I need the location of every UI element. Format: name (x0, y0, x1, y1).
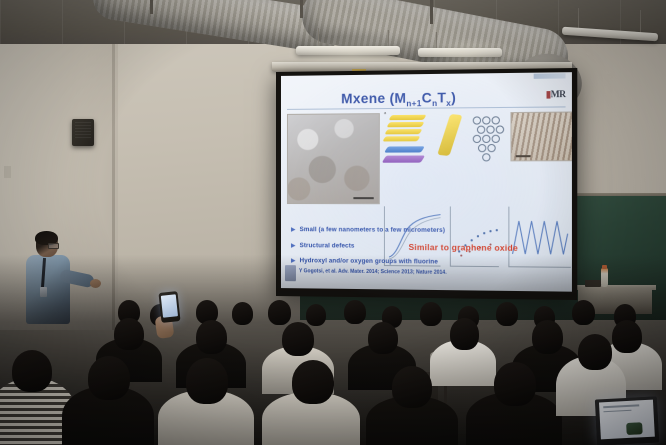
bullet-text: Hydroxyl and/or oxygen groups with fluor… (300, 257, 438, 266)
audience-head (306, 304, 326, 326)
audience-head (496, 302, 518, 326)
audience-head (196, 320, 227, 354)
smartphone (158, 291, 180, 323)
molecular-diagram (469, 112, 509, 170)
scale-bar (353, 197, 373, 199)
audience-head (268, 300, 291, 325)
laptop-screen (599, 400, 655, 440)
audience-head (186, 358, 228, 404)
audience-head (292, 360, 334, 404)
figure-row: a (287, 112, 566, 203)
tem-micrograph (510, 112, 571, 162)
slide-footer-logo (285, 265, 296, 281)
layer-yellow (384, 129, 422, 134)
layer-blue (384, 146, 425, 152)
audience-head (88, 356, 130, 400)
audience-head (114, 318, 144, 350)
slide-title-c: C (422, 90, 432, 105)
layer-yellow (388, 115, 426, 120)
left-wall-edge (112, 0, 115, 330)
bullet-marker: ▶ (291, 226, 296, 235)
projection-screen: Mxene (Mn+1CnTx) ▮MR (276, 68, 577, 300)
rod-particle (437, 114, 462, 156)
open-laptop[interactable] (595, 396, 659, 445)
sem-micrograph (287, 113, 380, 204)
audience-head (368, 322, 398, 354)
slide-title-t: T (437, 90, 446, 105)
logo-text: MR (551, 89, 566, 99)
audience-head (12, 350, 52, 392)
highlight-text: Similar to graphene oxide (409, 243, 518, 253)
bullet-text: Structural defects (300, 242, 355, 250)
panel-label-a: a (384, 110, 386, 115)
slide-title-paren: ) (451, 90, 456, 105)
wall-plate (4, 166, 11, 178)
citation-text: Y Gogotsi, et al. Adv. Mater. 2014; Scie… (299, 268, 447, 276)
lecture-hall-photo: Mxene (Mn+1CnTx) ▮MR (0, 0, 666, 445)
podium-object (585, 280, 601, 287)
layer-yellow (386, 122, 424, 127)
audience-head (232, 302, 253, 325)
presenter-torso (26, 255, 70, 324)
bullet-marker: ▶ (291, 242, 296, 251)
bullet-item: ▶ Small (a few nanometers to a few micro… (291, 226, 563, 237)
light-cable (640, 10, 641, 34)
laptop-content-thumbnail (626, 422, 643, 435)
layer-yellow (382, 136, 420, 141)
speaker-grill (75, 122, 91, 139)
audience-head (612, 320, 642, 353)
light-cable (578, 8, 579, 30)
bottle-cap (602, 265, 607, 269)
phone-screen (161, 294, 178, 317)
scale-bar (516, 155, 531, 157)
name-badge (40, 287, 47, 297)
water-bottle (601, 268, 608, 287)
audience-head (344, 300, 366, 324)
audience-head (578, 334, 612, 370)
presenter-hand (90, 279, 101, 288)
audience-head (494, 362, 536, 406)
duct-hanger (150, 0, 153, 14)
presenter (22, 232, 84, 324)
audience-head (420, 302, 442, 326)
bullet-text: Small (a few nanometers to a few microme… (300, 226, 445, 235)
layered-structure-schematic: a (384, 112, 462, 169)
audience-head (450, 318, 479, 350)
wall-mounted-loudspeaker (72, 119, 94, 146)
screen-surface: Mxene (Mn+1CnTx) ▮MR (281, 72, 572, 292)
audience-head (282, 322, 314, 356)
audience-head (532, 320, 563, 354)
slide-title-text: Mxene (M (341, 91, 406, 107)
audience-head (572, 300, 595, 325)
duct-hanger (300, 0, 303, 18)
slide-header-band (534, 73, 566, 79)
eyeglasses (48, 243, 59, 249)
bullet-item: ▶ Hydroxyl and/or oxygen groups with flu… (291, 257, 563, 269)
institution-logo: ▮MR (546, 89, 566, 101)
duct-hanger (430, 0, 433, 24)
layer-purple (382, 155, 425, 162)
audience-head (392, 366, 432, 408)
presentation-slide: Mxene (Mn+1CnTx) ▮MR (281, 72, 572, 292)
